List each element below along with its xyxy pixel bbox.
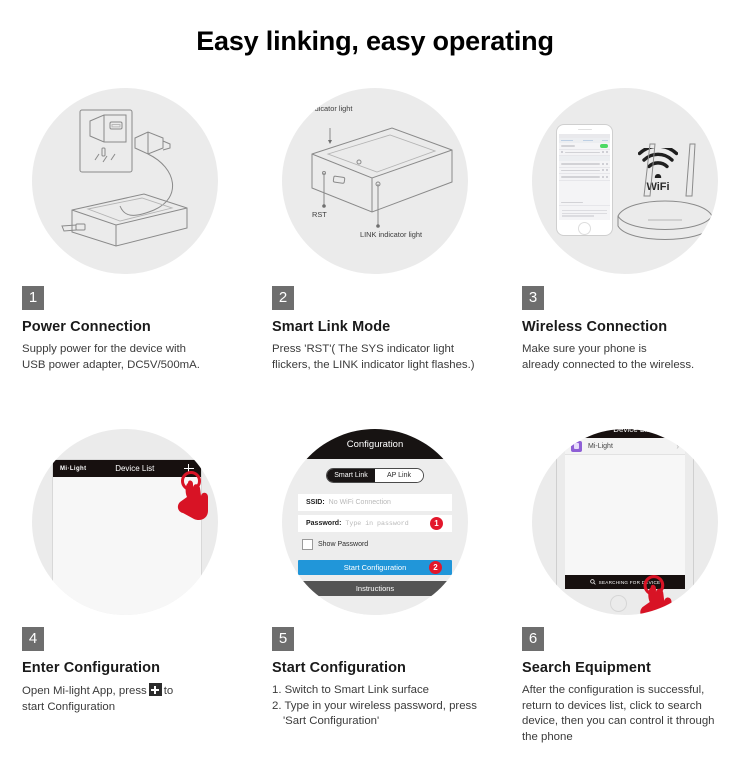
step-6-body-line-1: After the configuration is successful, bbox=[522, 683, 732, 699]
phone-home-button[interactable] bbox=[610, 595, 627, 612]
pointer-hand-icon bbox=[174, 471, 214, 525]
show-password-checkbox[interactable] bbox=[302, 539, 313, 550]
step-title-1: Power Connection bbox=[22, 319, 232, 335]
illustration-circle-1 bbox=[32, 88, 218, 274]
step-number-badge-6: 6 bbox=[522, 627, 544, 651]
step-5-illustration-wrap: Configuration Smart Link AP Link SSID: bbox=[250, 423, 500, 619]
step-title-4: Enter Configuration bbox=[22, 660, 232, 676]
pointer-hand-icon bbox=[636, 575, 678, 615]
step-4-caption: 4 Enter Configuration Open Mi-light App,… bbox=[0, 619, 250, 715]
step-number-badge-1: 1 bbox=[22, 286, 44, 310]
step-5-marker-2: 2. bbox=[272, 700, 282, 712]
step-5-text-2: Type in your wireless password, press bbox=[284, 700, 476, 712]
instructions-label: Instructions bbox=[356, 584, 394, 593]
wifi-toggle bbox=[600, 144, 608, 148]
illustration-circle-5: Configuration Smart Link AP Link SSID: bbox=[282, 429, 468, 615]
step-1-illustration-wrap bbox=[0, 82, 250, 278]
plus-icon bbox=[149, 683, 162, 696]
ssid-value: No WiFi Connection bbox=[329, 499, 391, 506]
password-label: Password: bbox=[306, 520, 341, 527]
step-body-3: Make sure your phone is already connecte… bbox=[522, 342, 732, 373]
step-card-6: Mi·Light Device List Mi-Light › bbox=[500, 423, 750, 745]
illustration-circle-3: WiFi bbox=[532, 88, 718, 274]
app-bar-title: Device List bbox=[599, 429, 667, 434]
illustration-circle-4: Mi·Light Device List bbox=[32, 429, 218, 615]
step-card-4: Mi·Light Device List 4 bbox=[0, 423, 250, 745]
step-6-body-line-2: return to devices list, click to search bbox=[522, 699, 732, 715]
step-4-body-line-2: start Configuration bbox=[22, 700, 232, 716]
step-number-badge-2: 2 bbox=[272, 286, 294, 310]
phone-speaker bbox=[557, 125, 612, 134]
magnifier-icon bbox=[590, 579, 596, 585]
step-number-badge-5: 5 bbox=[272, 627, 294, 651]
step-3-body-line-1: Make sure your phone is bbox=[522, 342, 732, 358]
callout-badge-2: 2 bbox=[429, 561, 442, 574]
step-title-2: Smart Link Mode bbox=[272, 319, 482, 335]
step-5-list-item-1: 1. Switch to Smart Link surface bbox=[272, 683, 482, 699]
step-body-2: Press 'RST'( The SYS indicator light fli… bbox=[272, 342, 482, 373]
step-2-body-line-1: Press 'RST'( The SYS indicator light bbox=[272, 342, 482, 358]
step-5-list-item-2: 2. Type in your wireless password, press bbox=[272, 699, 482, 715]
step-body-1: Supply power for the device with USB pow… bbox=[22, 342, 232, 373]
device-name: Mi-Light bbox=[588, 443, 676, 450]
step-2-body-line-2: flickers, the LINK indicator light flash… bbox=[272, 358, 482, 374]
network-row bbox=[559, 174, 610, 181]
step-3-illustration-wrap: WiFi bbox=[500, 82, 750, 278]
step-1-body-line-2: USB power adapter, DC5V/500mA. bbox=[22, 358, 232, 374]
step-5-text-1: Switch to Smart Link surface bbox=[285, 684, 429, 696]
page-title: Easy linking, easy operating bbox=[0, 0, 750, 57]
ssid-field[interactable]: SSID: No WiFi Connection bbox=[298, 494, 452, 511]
app-bar-title: Device List bbox=[87, 464, 183, 473]
step-number-badge-4: 4 bbox=[22, 627, 44, 651]
infographic-page: Easy linking, easy operating bbox=[0, 0, 750, 767]
step-title-6: Search Equipment bbox=[522, 660, 732, 676]
password-placeholder: Type in password bbox=[345, 520, 408, 527]
step-6-illustration-wrap: Mi·Light Device List Mi-Light › bbox=[500, 423, 750, 619]
password-field[interactable]: Password: Type in password 1 bbox=[298, 515, 452, 532]
bulb-icon bbox=[571, 441, 582, 452]
step-5-marker-1: 1. bbox=[272, 684, 282, 696]
step-6-caption: 6 Search Equipment After the configurati… bbox=[500, 619, 750, 745]
app-logo: Mi·Light bbox=[572, 429, 599, 433]
chevron-right-icon: › bbox=[676, 442, 679, 451]
step-5-caption: 5 Start Configuration 1. Switch to Smart… bbox=[250, 619, 500, 730]
illustration-circle-2: SYS indicator light RST LINK indicator l… bbox=[282, 88, 468, 274]
configuration-body: Smart Link AP Link SSID: No WiFi Connect… bbox=[298, 459, 452, 615]
device-list-item[interactable]: Mi-Light › bbox=[565, 438, 685, 455]
app-logo: Mi·Light bbox=[60, 466, 87, 472]
steps-row-bottom: Mi·Light Device List 4 bbox=[0, 423, 750, 745]
step-6-body-line-3: device, then you can control it through bbox=[522, 714, 732, 730]
show-password-label: Show Password bbox=[318, 541, 368, 548]
step-card-5: Configuration Smart Link AP Link SSID: bbox=[250, 423, 500, 745]
steps-grid: 1 Power Connection Supply power for the … bbox=[0, 82, 750, 745]
steps-row-top: 1 Power Connection Supply power for the … bbox=[0, 82, 750, 373]
step-card-3: WiFi bbox=[500, 82, 750, 373]
configuration-panel: Configuration Smart Link AP Link SSID: bbox=[282, 429, 468, 615]
phone-mock-wifi-settings bbox=[556, 124, 613, 236]
start-configuration-label: Start Configuration bbox=[344, 563, 407, 572]
link-mode-tabs[interactable]: Smart Link AP Link bbox=[326, 468, 424, 483]
step-3-caption: 3 Wireless Connection Make sure your pho… bbox=[500, 278, 750, 373]
step-1-caption: 1 Power Connection Supply power for the … bbox=[0, 278, 250, 373]
callout-badge-1: 1 bbox=[430, 517, 443, 530]
step-4-body-prefix: Open Mi-light App, press bbox=[22, 685, 147, 697]
step-2-caption: 2 Smart Link Mode Press 'RST'( The SYS i… bbox=[250, 278, 500, 373]
ssid-label: SSID: bbox=[306, 499, 325, 506]
step-6-body-line-4: the phone bbox=[522, 730, 732, 746]
label-sys-indicator: SYS indicator light bbox=[292, 104, 352, 113]
show-password-row[interactable]: Show Password bbox=[302, 539, 452, 550]
step-5-list-item-3: 'Sart Configuration' bbox=[272, 714, 482, 730]
step-number-badge-3: 3 bbox=[522, 286, 544, 310]
step-2-illustration-wrap: SYS indicator light RST LINK indicator l… bbox=[250, 82, 500, 278]
configuration-buttons: Start Configuration 2 Instructions bbox=[298, 560, 452, 596]
step-body-6: After the configuration is successful, r… bbox=[522, 683, 732, 745]
step-4-body-suffix: to bbox=[164, 685, 174, 697]
power-connection-illustration bbox=[32, 88, 218, 274]
illustration-circle-6: Mi·Light Device List Mi-Light › bbox=[532, 429, 718, 615]
tab-smart-link[interactable]: Smart Link bbox=[327, 469, 375, 482]
step-3-body-line-2: already connected to the wireless. bbox=[522, 358, 732, 374]
step-card-2: SYS indicator light RST LINK indicator l… bbox=[250, 82, 500, 373]
start-configuration-button[interactable]: Start Configuration 2 bbox=[298, 560, 452, 575]
phone-home-button bbox=[578, 222, 591, 235]
phone-screen bbox=[559, 134, 610, 220]
other-network-row bbox=[559, 200, 610, 207]
step-1-body-line-1: Supply power for the device with bbox=[22, 342, 232, 358]
step-4-body-line-1: Open Mi-light App, pressto bbox=[22, 683, 232, 700]
step-body-4: Open Mi-light App, pressto start Configu… bbox=[22, 683, 232, 715]
step-title-3: Wireless Connection bbox=[522, 319, 732, 335]
step-4-illustration-wrap: Mi·Light Device List bbox=[0, 423, 250, 619]
smart-link-device-illustration bbox=[282, 88, 468, 274]
footer-note bbox=[562, 209, 607, 218]
tab-ap-link[interactable]: AP Link bbox=[375, 469, 423, 482]
step-title-5: Start Configuration bbox=[272, 660, 482, 676]
step-card-1: 1 Power Connection Supply power for the … bbox=[0, 82, 250, 373]
app-screen-search: Mi·Light Device List Mi-Light › bbox=[565, 429, 685, 589]
label-rst: RST bbox=[312, 210, 327, 219]
instructions-button[interactable]: Instructions bbox=[298, 581, 452, 596]
configuration-header: Configuration bbox=[282, 429, 468, 459]
router-illustration bbox=[610, 134, 718, 254]
step-body-5: 1. Switch to Smart Link surface 2. Type … bbox=[272, 683, 482, 730]
label-link-indicator: LINK indicator light bbox=[360, 230, 422, 239]
app-top-bar[interactable]: Mi·Light Device List bbox=[565, 429, 685, 438]
configuration-fields: SSID: No WiFi Connection Password: Type … bbox=[298, 494, 452, 532]
